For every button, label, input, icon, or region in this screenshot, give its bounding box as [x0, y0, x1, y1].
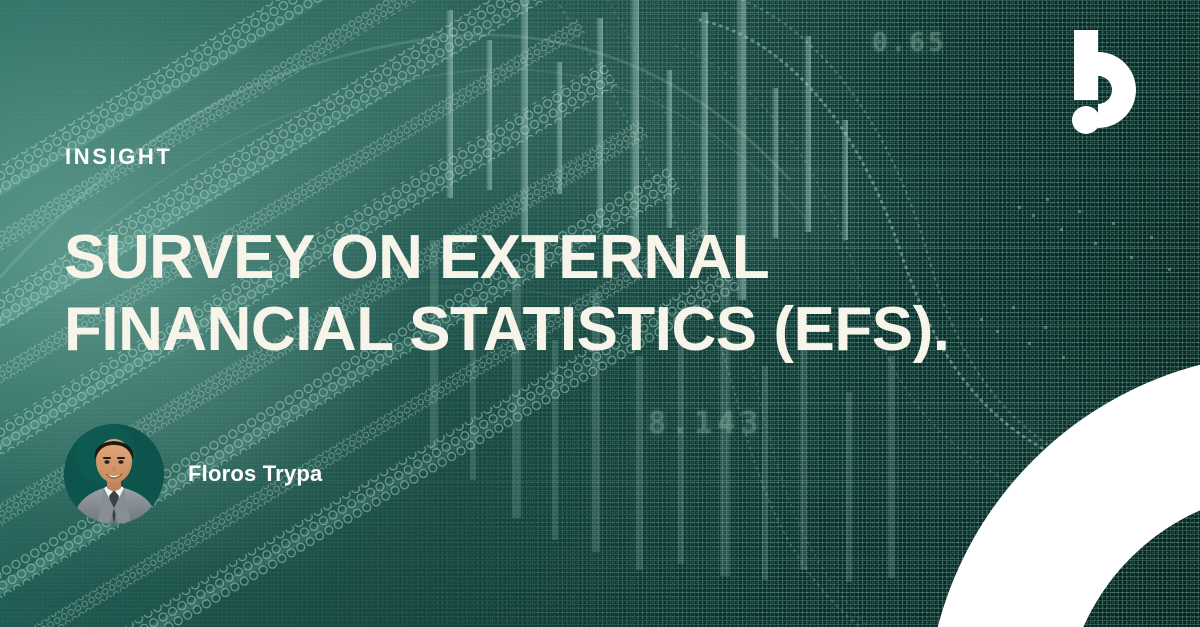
quarter-ring-icon: [926, 353, 1200, 627]
b-mark-logo[interactable]: [1070, 30, 1162, 134]
avatar: [64, 424, 164, 524]
author-name: Floros Trypa: [188, 461, 322, 487]
quarter-ring-decoration: [926, 353, 1200, 627]
author-block: Floros Trypa: [64, 424, 322, 524]
insight-banner: 0.65 8.143 INSIGHT SURVEY ON EXTERNAL FI…: [0, 0, 1200, 627]
avatar-portrait-illustration: [64, 424, 164, 524]
eyebrow-label: INSIGHT: [65, 144, 172, 170]
page-title: SURVEY ON EXTERNAL FINANCIAL STATISTICS …: [64, 222, 1024, 366]
b-mark-logo-icon: [1070, 30, 1162, 134]
